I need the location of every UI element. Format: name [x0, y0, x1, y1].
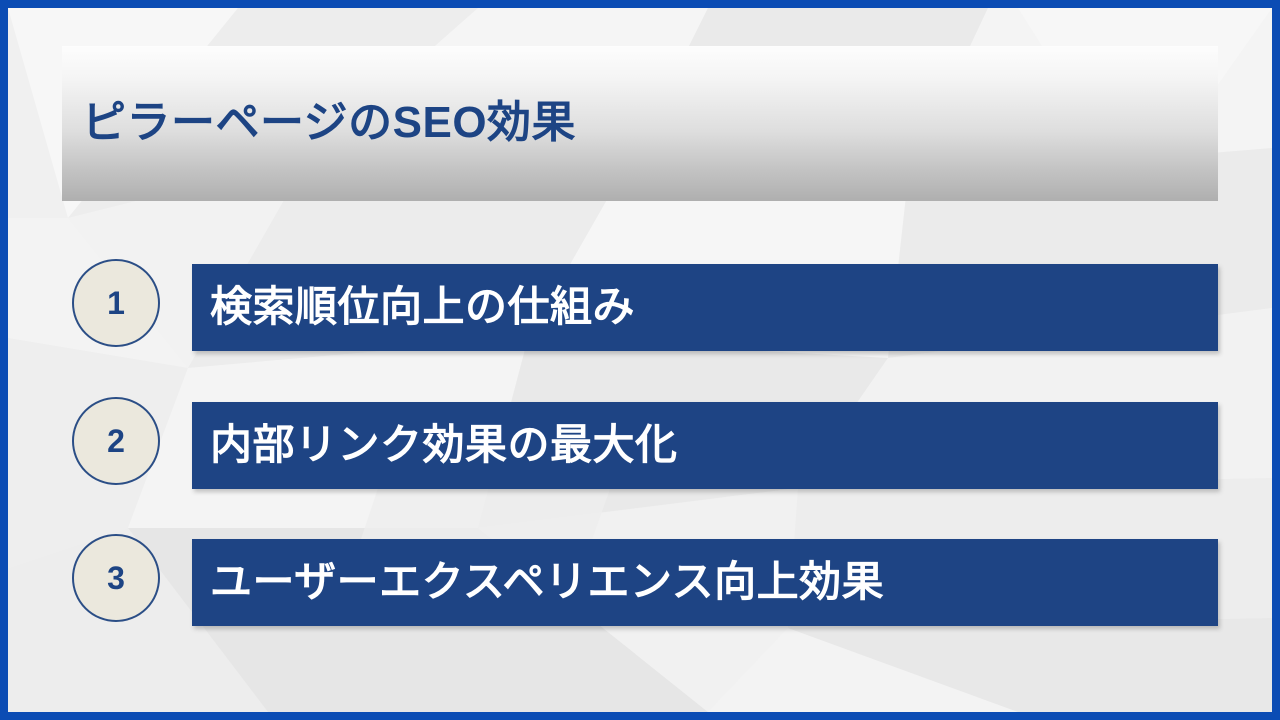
item-bar[interactable]: 内部リンク効果の最大化: [192, 402, 1218, 489]
slide-canvas: ピラーページのSEO効果 1 検索順位向上の仕組み 2 内部リンク効果の最大化 …: [8, 8, 1272, 712]
title-bar: ピラーページのSEO効果: [62, 46, 1218, 201]
item-label: 内部リンク効果の最大化: [210, 423, 678, 467]
item-bar[interactable]: 検索順位向上の仕組み: [192, 264, 1218, 351]
item-bar[interactable]: ユーザーエクスペリエンス向上効果: [192, 539, 1218, 626]
item-number-badge: 3: [72, 534, 160, 622]
list-item[interactable]: 1 検索順位向上の仕組み: [8, 259, 1272, 351]
slide-frame: ピラーページのSEO効果 1 検索順位向上の仕組み 2 内部リンク効果の最大化 …: [0, 0, 1280, 720]
list-item[interactable]: 2 内部リンク効果の最大化: [8, 397, 1272, 489]
list-item[interactable]: 3 ユーザーエクスペリエンス向上効果: [8, 534, 1272, 626]
item-number-badge: 2: [72, 397, 160, 485]
item-label: ユーザーエクスペリエンス向上効果: [210, 560, 884, 604]
item-label: 検索順位向上の仕組み: [210, 285, 635, 329]
page-title: ピラーページのSEO効果: [82, 99, 576, 147]
item-number-badge: 1: [72, 259, 160, 347]
